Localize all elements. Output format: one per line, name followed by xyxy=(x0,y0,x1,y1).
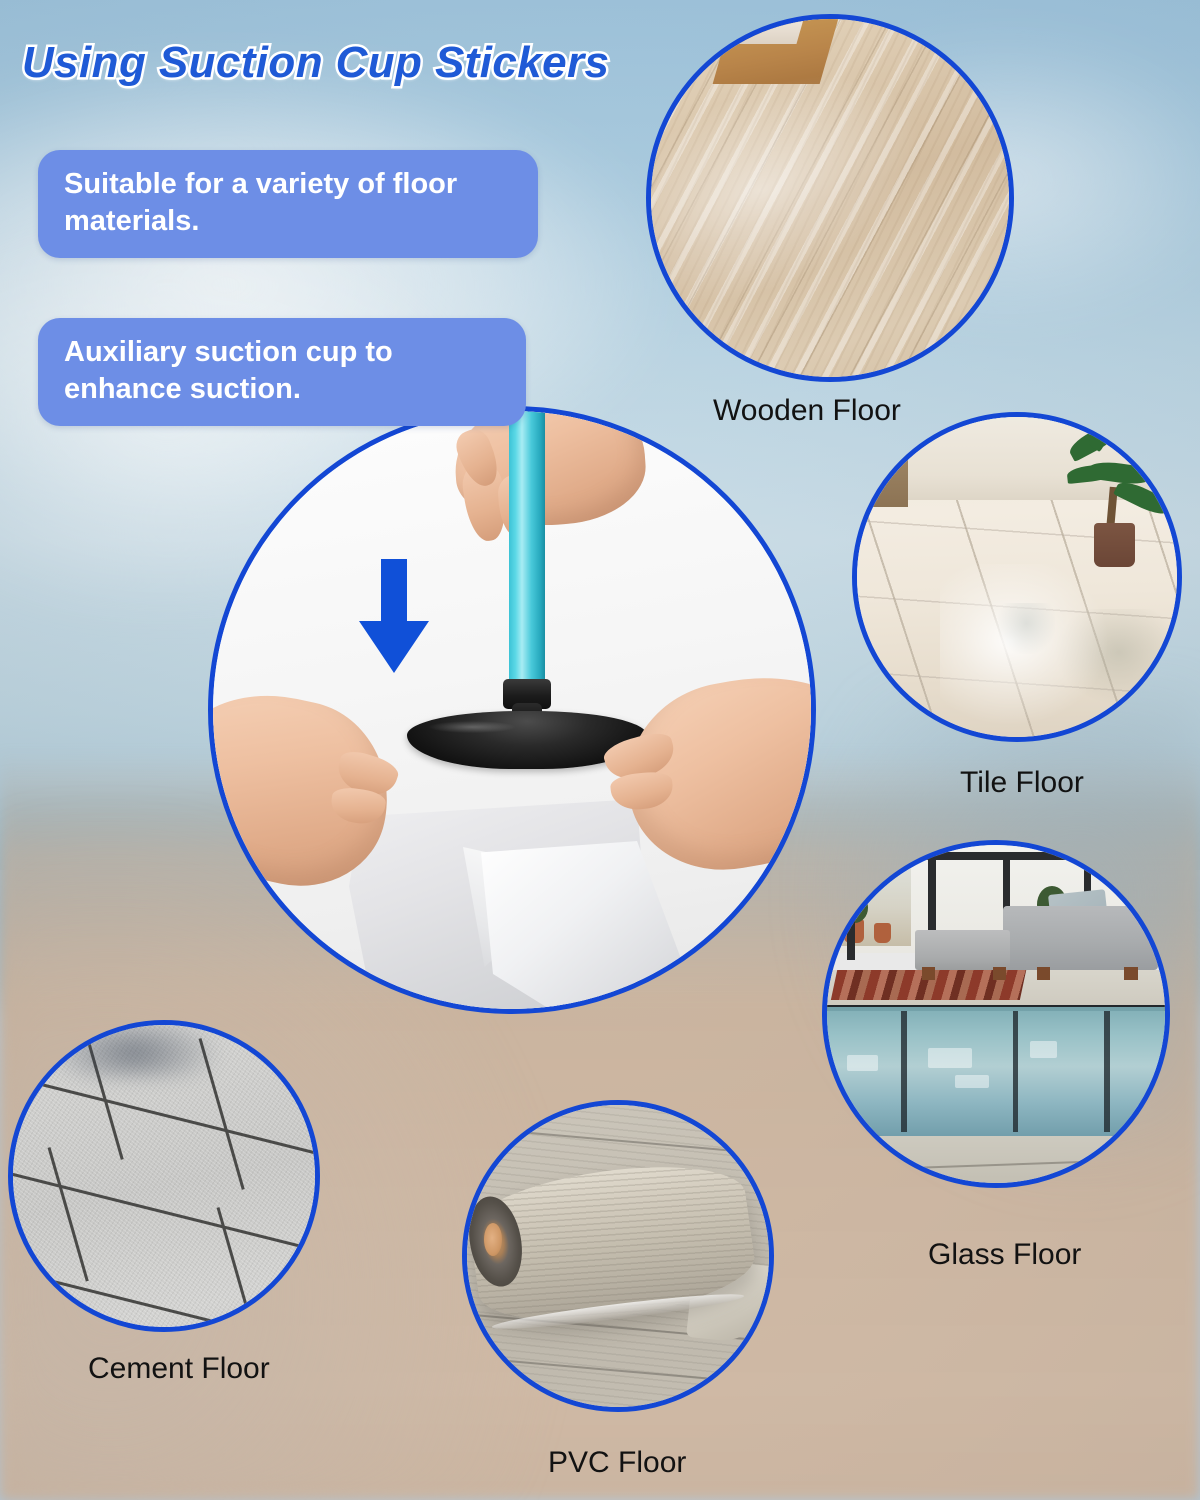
floor-label-pvc: PVC Floor xyxy=(548,1446,686,1480)
doorway-opening xyxy=(739,14,806,44)
terracotta-pot xyxy=(874,923,891,943)
glass-panel-divider xyxy=(1104,1011,1109,1133)
glass-panel-divider xyxy=(901,1011,906,1133)
suction-cup-highlight xyxy=(429,721,515,733)
window-mullion xyxy=(847,852,854,960)
glass-panel-divider xyxy=(1013,1011,1018,1133)
photo-circle-main-demo xyxy=(208,406,816,1014)
callout-suitable-materials: Suitable for a variety of floor material… xyxy=(38,150,538,258)
floor-label-glass: Glass Floor xyxy=(928,1238,1081,1272)
glass-reflection xyxy=(1030,1041,1057,1058)
photo-circle-wooden-floor xyxy=(646,14,1014,382)
ottoman xyxy=(915,930,1010,971)
glass-reflection xyxy=(955,1075,989,1089)
callout-auxiliary-suction: Auxiliary suction cup to enhance suction… xyxy=(38,318,526,426)
teal-pole xyxy=(509,407,545,685)
pvc-roll-core xyxy=(484,1223,502,1256)
furniture-leg xyxy=(922,967,936,981)
page-title: Using Suction Cup Stickers xyxy=(22,38,609,88)
photo-circle-cement-floor xyxy=(8,1020,320,1332)
cement-floor-photo xyxy=(13,1025,315,1327)
pvc-floor-photo xyxy=(467,1105,769,1407)
wall-recess xyxy=(863,455,908,506)
glass-floor-photo xyxy=(827,845,1165,1183)
glass-reflection xyxy=(928,1048,972,1068)
photo-circle-tile-floor xyxy=(852,412,1182,742)
sofa xyxy=(1003,906,1158,970)
plant-pot xyxy=(1094,523,1136,568)
floor-label-tile: Tile Floor xyxy=(960,766,1084,800)
cast-shadow xyxy=(43,1020,224,1079)
photo-circle-pvc-floor xyxy=(462,1100,774,1412)
photo-circle-glass-floor xyxy=(822,840,1170,1188)
window-frame-top xyxy=(847,852,1090,860)
wooden-floor-photo xyxy=(651,19,1009,377)
floor-label-cement: Cement Floor xyxy=(88,1352,270,1386)
furniture-leg xyxy=(1037,967,1051,981)
tile-floor-photo xyxy=(857,417,1177,737)
pot-reflection xyxy=(998,603,1056,654)
furniture-leg xyxy=(993,967,1007,981)
furniture-leg xyxy=(1124,967,1138,981)
glass-reflection xyxy=(847,1055,877,1072)
suction-cup-demo-photo xyxy=(213,411,811,1009)
down-arrow-icon xyxy=(355,559,433,673)
floor-label-wooden: Wooden Floor xyxy=(713,394,901,428)
glass-floor-panel xyxy=(827,1007,1165,1135)
